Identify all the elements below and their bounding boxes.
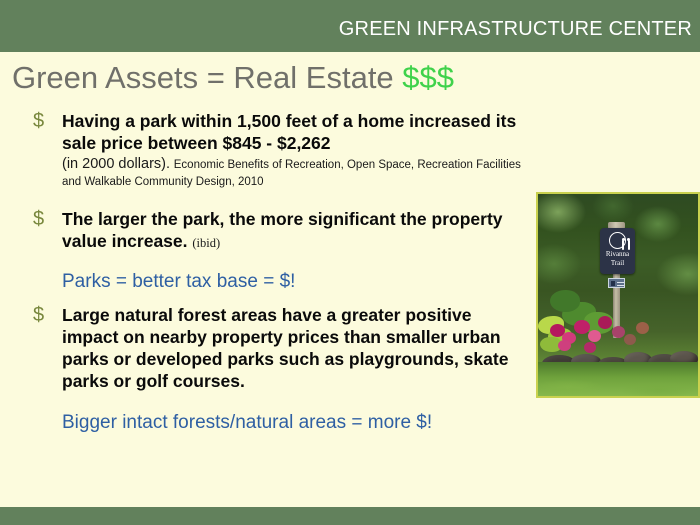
note-parenthetical: (in 2000 dollars). bbox=[62, 156, 170, 172]
plaque-line bbox=[617, 282, 624, 283]
trail-sign-board: Rivanna Trail bbox=[600, 228, 635, 274]
note-ibid: (ibid) bbox=[192, 236, 220, 250]
list-item-note: (in 2000 dollars). Economic Benefits of … bbox=[62, 156, 522, 190]
sign-label-line2: Trail bbox=[600, 259, 635, 268]
page-title-main: Green Assets = Real Estate bbox=[12, 60, 402, 95]
photo-scene: Rivanna Trail bbox=[538, 194, 698, 396]
plaque-line bbox=[617, 285, 624, 286]
flower bbox=[636, 322, 649, 334]
page-title: Green Assets = Real Estate $$$ bbox=[12, 60, 454, 96]
hiker-icon bbox=[609, 232, 626, 249]
sign-label: Rivanna Trail bbox=[600, 250, 635, 267]
sign-label-line1: Rivanna bbox=[600, 250, 635, 259]
hiker-body bbox=[628, 240, 630, 250]
list-item-text: Large natural forest areas have a greate… bbox=[62, 304, 524, 392]
highlight-line-2: Bigger intact forests/natural areas = mo… bbox=[0, 411, 700, 435]
dollar-bullet-icon: $ bbox=[33, 110, 44, 132]
flower bbox=[598, 316, 612, 329]
plaque-mark bbox=[611, 281, 615, 286]
sign-plaque bbox=[608, 278, 625, 288]
list-item-sentence: The larger the park, the more significan… bbox=[62, 209, 503, 251]
footer-band bbox=[0, 507, 700, 525]
list-item: $ Having a park within 1,500 feet of a h… bbox=[0, 110, 700, 190]
page-title-accent: $$$ bbox=[402, 60, 454, 95]
slide-canvas: GREEN INFRASTRUCTURE CENTER Green Assets… bbox=[0, 0, 700, 525]
dollar-bullet-icon: $ bbox=[33, 208, 44, 230]
dollar-bullet-icon: $ bbox=[33, 304, 44, 326]
trail-sign-photo: Rivanna Trail bbox=[536, 192, 700, 398]
hiker-body bbox=[622, 240, 624, 250]
list-item-text: The larger the park, the more significan… bbox=[62, 208, 522, 254]
organization-title: GREEN INFRASTRUCTURE CENTER bbox=[339, 18, 692, 41]
grass-strip bbox=[538, 362, 698, 396]
flower bbox=[574, 320, 590, 334]
flower bbox=[588, 330, 601, 342]
list-item-text: Having a park within 1,500 feet of a hom… bbox=[62, 110, 522, 154]
flower bbox=[612, 326, 625, 338]
